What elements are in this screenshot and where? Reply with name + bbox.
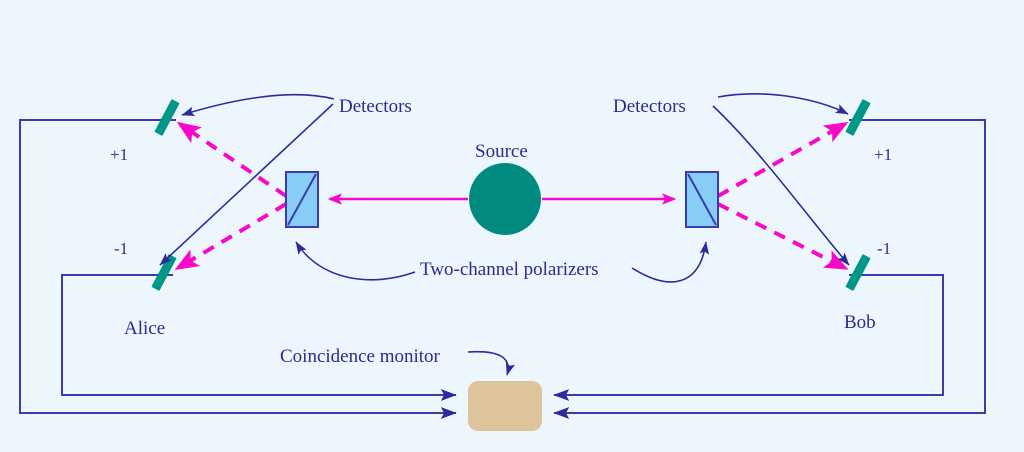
label-alice-minus-one: -1 [114,239,128,258]
label-two-channel-polarizers: Two-channel polarizers [420,259,599,280]
detector-bob-plus-one[interactable] [845,99,870,136]
label-bob: Bob [844,312,876,333]
beam-alice-plus-channel [180,124,286,196]
two-channel-polarizer-bob[interactable] [686,172,718,227]
eprb-diagram-canvas: Detectors Detectors Source Two-channel p… [0,0,1024,452]
wire-bob-plus [554,120,985,413]
label-bob-plus-one: +1 [874,145,892,164]
leader-detectors-right-to-minus [713,106,849,265]
label-alice: Alice [124,318,165,339]
label-coincidence-monitor: Coincidence monitor [280,346,441,367]
detector-alice-minus-one[interactable] [151,254,176,291]
coincidence-monitor[interactable] [468,381,542,431]
label-bob-minus-one: -1 [877,239,891,258]
wire-bob-minus [554,275,943,395]
leader-detectors-right-to-plus [718,94,848,114]
label-detectors-right: Detectors [613,96,686,117]
label-alice-plus-one: +1 [110,145,128,164]
wire-alice-plus [20,120,456,413]
leader-detectors-left-to-plus [182,95,334,115]
detector-alice-plus-one[interactable] [154,99,179,136]
leader-polarizers-to-bob [632,242,706,282]
wire-alice-minus [62,275,456,395]
beam-bob-plus-channel [718,124,845,196]
detector-bob-minus-one[interactable] [845,254,870,291]
diagram-svg: Detectors Detectors Source Two-channel p… [0,0,1024,452]
entangled-photon-source[interactable] [469,163,541,235]
label-source: Source [475,141,528,162]
beam-alice-minus-channel [178,204,286,268]
leader-polarizers-to-alice [296,242,415,280]
leader-coincidence-to-monitor [468,352,508,375]
label-detectors-left: Detectors [339,96,412,117]
two-channel-polarizer-alice[interactable] [286,172,318,227]
